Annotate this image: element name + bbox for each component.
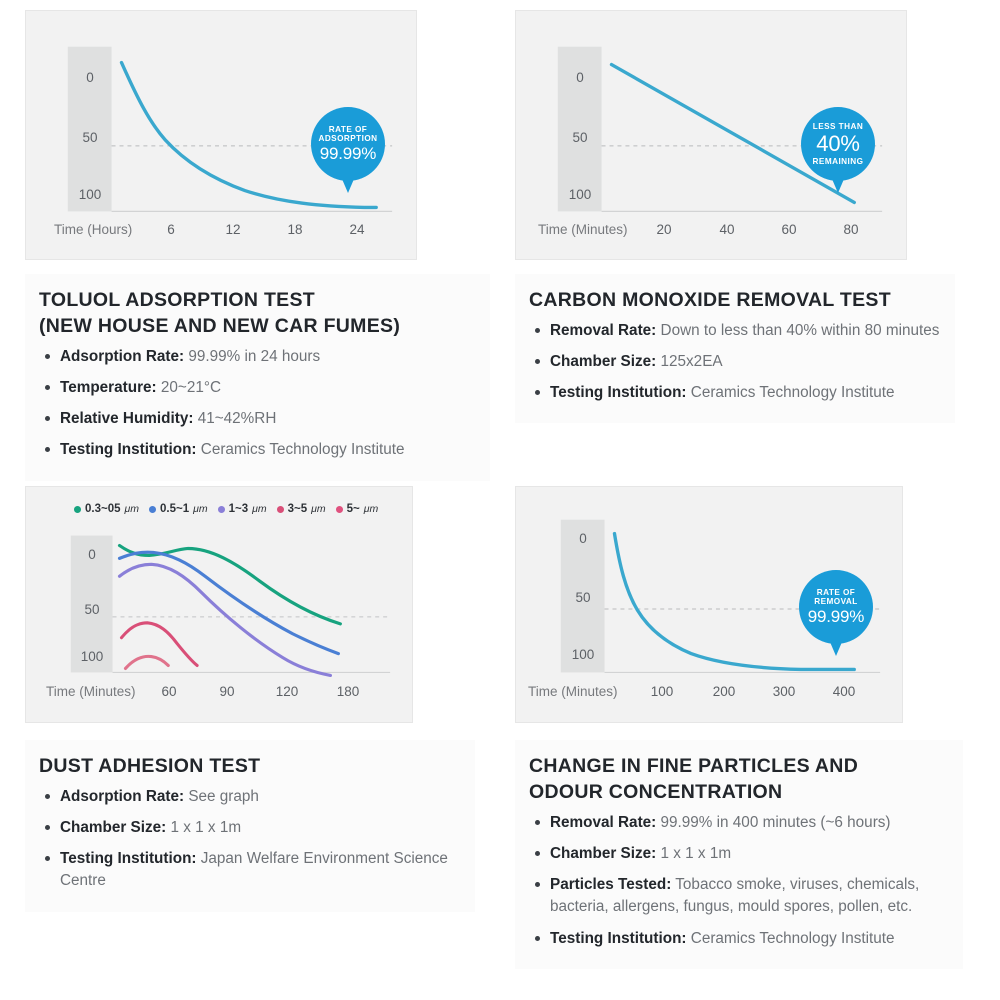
fine-particles-chart-card: 0 50 100 Time (Minutes) 100 200 300 400 … [515, 486, 903, 723]
legend-swatch-4 [336, 506, 343, 513]
legend-unit-4: μm [364, 503, 379, 515]
item-value: 99.99% in 400 minutes (~6 hours) [661, 814, 891, 831]
y-tick-100: 100 [68, 187, 112, 202]
y-tick-0: 0 [70, 547, 114, 562]
dust-adhesion-text-panel: DUST ADHESION TEST Adsorption Rate: See … [25, 740, 475, 912]
legend-unit-3: μm [311, 503, 326, 515]
x-tick-3: 300 [764, 684, 804, 699]
x-tick-4: 180 [328, 684, 368, 699]
y-tick-100: 100 [70, 649, 114, 664]
x-tick-2: 40 [707, 222, 747, 237]
series-curve-0 [120, 546, 341, 624]
x-tick-4: 400 [824, 684, 864, 699]
badge-caption-line1: RATE OF [329, 125, 367, 134]
list-item: Chamber Size: 1 x 1 x 1m [529, 843, 949, 865]
panel-fine-particles: 0 50 100 Time (Minutes) 100 200 300 400 … [515, 486, 985, 969]
y-tick-0: 0 [561, 531, 605, 546]
legend-unit-0: μm [125, 503, 140, 515]
item-value: See graph [188, 788, 259, 805]
x-tick-3: 60 [769, 222, 809, 237]
legend-label-2: 1~3 [229, 503, 249, 515]
list-item: Testing Institution: Japan Welfare Envir… [39, 848, 461, 892]
panel-title-line1: CHANGE IN FINE PARTICLES AND [529, 755, 858, 777]
x-tick-2: 90 [207, 684, 247, 699]
legend-label-3: 3~5 [288, 503, 308, 515]
x-tick-4: 24 [337, 222, 377, 237]
list-item: Chamber Size: 1 x 1 x 1m [39, 817, 461, 839]
remaining-rate-badge: LESS THAN 40% REMAINING [801, 107, 875, 181]
item-label: Chamber Size: [60, 819, 166, 836]
item-label: Chamber Size: [550, 845, 656, 862]
dust-chart-legend: 0.3~05μm 0.5~1μm 1~3μm 3~5μm 5~μm [74, 503, 378, 515]
x-axis-label: Time (Minutes) [528, 684, 618, 699]
x-tick-3: 120 [267, 684, 307, 699]
item-value: 20~21°C [161, 379, 221, 396]
carbon-monoxide-text-panel: CARBON MONOXIDE REMOVAL TEST Removal Rat… [515, 274, 955, 423]
adsorption-rate-badge: RATE OF ADSORPTION 99.99% [311, 107, 385, 181]
x-tick-1: 60 [149, 684, 189, 699]
list-item: Temperature: 20~21°C [39, 377, 476, 399]
item-value: 125x2EA [661, 353, 723, 370]
list-item: Testing Institution: Ceramics Technology… [529, 928, 949, 950]
x-tick-1: 100 [642, 684, 682, 699]
item-label: Particles Tested: [550, 876, 671, 893]
series-curve-4 [125, 656, 168, 668]
panel-detail-list: Removal Rate: 99.99% in 400 minutes (~6 … [529, 812, 949, 950]
badge-pointer [832, 179, 844, 193]
item-value: 1 x 1 x 1m [171, 819, 242, 836]
item-label: Chamber Size: [550, 353, 656, 370]
x-tick-4: 80 [831, 222, 871, 237]
badge-caption-line2: REMOVAL [814, 597, 857, 606]
list-item: Testing Institution: Ceramics Technology… [529, 382, 941, 404]
list-item: Removal Rate: 99.99% in 400 minutes (~6 … [529, 812, 949, 834]
y-tick-50: 50 [68, 130, 112, 145]
x-axis-label: Time (Minutes) [46, 684, 136, 699]
legend-swatch-2 [218, 506, 225, 513]
item-label: Temperature: [60, 379, 157, 396]
item-value: 41~42%RH [198, 410, 277, 427]
x-tick-2: 12 [213, 222, 253, 237]
legend-item-0: 0.3~05μm [74, 503, 139, 515]
series-curve-1 [120, 552, 339, 653]
removal-rate-badge: RATE OF REMOVAL 99.99% [799, 570, 873, 644]
list-item: Adsorption Rate: 99.99% in 24 hours [39, 346, 476, 368]
badge-value: 99.99% [808, 607, 864, 626]
test-results-page: 0 50 100 Time (Hours) 6 12 18 24 RATE OF… [0, 0, 1000, 1000]
list-item: Removal Rate: Down to less than 40% with… [529, 320, 941, 342]
legend-swatch-3 [277, 506, 284, 513]
badge-pointer [342, 179, 354, 193]
legend-swatch-0 [74, 506, 81, 513]
panel-dust-adhesion: 0.3~05μm 0.5~1μm 1~3μm 3~5μm 5~μm 0 50 1… [25, 486, 490, 912]
list-item: Testing Institution: Ceramics Technology… [39, 439, 476, 461]
panel-title: TOLUOL ADSORPTION TEST (NEW HOUSE AND NE… [39, 288, 476, 340]
list-item: Relative Humidity: 41~42%RH [39, 408, 476, 430]
panel-title-line1: CARBON MONOXIDE REMOVAL TEST [529, 289, 891, 311]
panel-carbon-monoxide: 0 50 100 Time (Minutes) 20 40 60 80 LESS… [515, 10, 985, 423]
item-label: Removal Rate: [550, 814, 656, 831]
legend-item-4: 5~μm [336, 503, 379, 515]
x-tick-2: 200 [704, 684, 744, 699]
y-tick-0: 0 [68, 70, 112, 85]
panel-detail-list: Adsorption Rate: 99.99% in 24 hours Temp… [39, 346, 476, 462]
item-label: Adsorption Rate: [60, 788, 184, 805]
x-tick-1: 20 [644, 222, 684, 237]
panel-title: CHANGE IN FINE PARTICLES AND ODOUR CONCE… [529, 754, 949, 806]
badge-caption-line1: LESS THAN [813, 122, 863, 131]
legend-item-3: 3~5μm [277, 503, 326, 515]
x-tick-3: 18 [275, 222, 315, 237]
item-value: Ceramics Technology Institute [201, 441, 405, 458]
panel-toluol: 0 50 100 Time (Hours) 6 12 18 24 RATE OF… [25, 10, 490, 481]
badge-value: 40% [816, 132, 859, 157]
list-item: Chamber Size: 125x2EA [529, 351, 941, 373]
item-label: Testing Institution: [550, 384, 687, 401]
y-tick-50: 50 [561, 590, 605, 605]
legend-item-1: 0.5~1μm [149, 503, 208, 515]
legend-unit-1: μm [193, 503, 208, 515]
y-tick-100: 100 [558, 187, 602, 202]
panel-title: DUST ADHESION TEST [39, 754, 461, 780]
item-label: Adsorption Rate: [60, 348, 184, 365]
dust-adhesion-chart-card: 0.3~05μm 0.5~1μm 1~3μm 3~5μm 5~μm 0 50 1… [25, 486, 413, 723]
list-item: Adsorption Rate: See graph [39, 786, 461, 808]
badge-caption-line1: RATE OF [817, 588, 855, 597]
legend-swatch-1 [149, 506, 156, 513]
legend-label-4: 5~ [347, 503, 360, 515]
panel-title-line2: ODOUR CONCENTRATION [529, 781, 782, 803]
list-item: Particles Tested: Tobacco smoke, viruses… [529, 874, 949, 918]
item-value: Ceramics Technology Institute [691, 930, 895, 947]
y-tick-50: 50 [70, 602, 114, 617]
panel-detail-list: Removal Rate: Down to less than 40% with… [529, 320, 941, 405]
fine-particles-text-panel: CHANGE IN FINE PARTICLES AND ODOUR CONCE… [515, 740, 963, 969]
panel-title: CARBON MONOXIDE REMOVAL TEST [529, 288, 941, 314]
toluol-chart-card: 0 50 100 Time (Hours) 6 12 18 24 RATE OF… [25, 10, 417, 260]
y-tick-100: 100 [561, 647, 605, 662]
panel-title-line1: TOLUOL ADSORPTION TEST [39, 289, 315, 311]
x-tick-1: 6 [151, 222, 191, 237]
item-value: Ceramics Technology Institute [691, 384, 895, 401]
legend-item-2: 1~3μm [218, 503, 267, 515]
item-label: Relative Humidity: [60, 410, 193, 427]
item-value: 99.99% in 24 hours [188, 348, 320, 365]
toluol-text-panel: TOLUOL ADSORPTION TEST (NEW HOUSE AND NE… [25, 274, 490, 481]
panel-title-line2: (NEW HOUSE AND NEW CAR FUMES) [39, 315, 400, 337]
badge-caption-line3: REMAINING [813, 157, 864, 166]
series-curve-2 [120, 564, 331, 675]
item-label: Testing Institution: [550, 930, 687, 947]
panel-detail-list: Adsorption Rate: See graph Chamber Size:… [39, 786, 461, 893]
item-label: Testing Institution: [60, 850, 197, 867]
y-tick-50: 50 [558, 130, 602, 145]
badge-value: 99.99% [320, 144, 376, 163]
item-value: 1 x 1 x 1m [661, 845, 732, 862]
badge-pointer [830, 642, 842, 656]
carbon-monoxide-chart-card: 0 50 100 Time (Minutes) 20 40 60 80 LESS… [515, 10, 907, 260]
panel-title-line1: DUST ADHESION TEST [39, 755, 260, 777]
y-tick-0: 0 [558, 70, 602, 85]
legend-label-0: 0.3~05 [85, 503, 121, 515]
x-axis-label: Time (Hours) [54, 222, 132, 237]
item-label: Removal Rate: [550, 322, 656, 339]
item-value: Down to less than 40% within 80 minutes [661, 322, 940, 339]
legend-unit-2: μm [252, 503, 267, 515]
item-label: Testing Institution: [60, 441, 197, 458]
legend-label-1: 0.5~1 [160, 503, 189, 515]
x-axis-label: Time (Minutes) [538, 222, 628, 237]
badge-caption-line2: ADSORPTION [318, 134, 377, 143]
